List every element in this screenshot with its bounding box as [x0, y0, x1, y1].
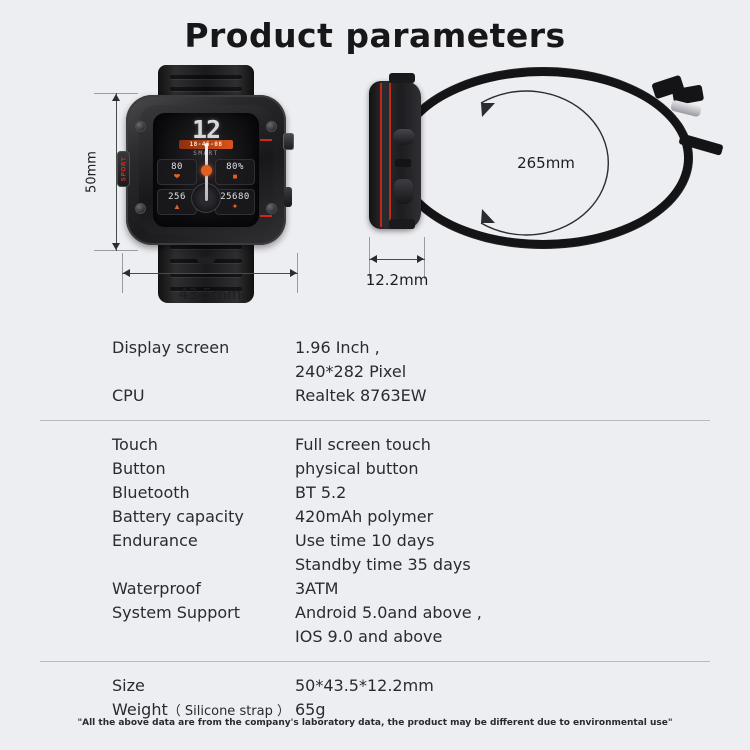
dimension-width-label: 43.5mm [122, 285, 298, 303]
dimension-circumference-label: 265mm [451, 154, 641, 172]
spec-row: CPU Realtek 8763EW [0, 384, 750, 408]
spec-value: Full screen touch [295, 433, 750, 457]
spec-label: Button [0, 457, 295, 481]
spec-value: 3ATM [295, 577, 750, 601]
watch-hand-center [201, 165, 212, 176]
spec-value: physical button [295, 457, 750, 481]
section-divider [40, 661, 710, 662]
spec-row: Battery capacity 420mAh polymer [0, 505, 750, 529]
bezel-screw-icon [266, 203, 277, 214]
spec-row: Display screen 1.96 Inch , 240*282 Pixel [0, 336, 750, 384]
specifications-table: Display screen 1.96 Inch , 240*282 Pixel… [0, 330, 750, 730]
heart-icon: ❤ [157, 172, 197, 182]
watch-buckle [651, 73, 709, 113]
watch-crown [283, 133, 294, 150]
spec-row: System Support Android 5.0and above , IO… [0, 601, 750, 649]
spec-label: Endurance [0, 529, 295, 553]
spec-label: Battery capacity [0, 505, 295, 529]
dimension-circumference: 265mm [451, 77, 641, 249]
spec-label: System Support [0, 601, 295, 625]
spec-value: BT 5.2 [295, 481, 750, 505]
spec-value: Realtek 8763EW [295, 384, 750, 408]
spec-label: Touch [0, 433, 295, 457]
watch-lug-top [389, 73, 415, 83]
page-title: Product parameters [0, 0, 750, 55]
product-image-area: SPORT 12 18-45-08 SMART 80 ❤ 80% ■ 256 [0, 63, 750, 318]
footnote-disclaimer: "All the above data are from the company… [0, 718, 750, 728]
battery-icon: ■ [215, 172, 255, 182]
bezel-screw-icon [135, 203, 146, 214]
watch-case: SPORT 12 18-45-08 SMART 80 ❤ 80% ■ 256 [126, 95, 286, 245]
spec-label: Waterproof [0, 577, 295, 601]
widget-value: 25680 [215, 189, 255, 202]
spec-label: Size [0, 674, 295, 698]
watch-lug-bottom [389, 219, 415, 229]
arrow-left-icon [370, 255, 377, 263]
watch-widget-battery: 80% ■ [215, 159, 255, 185]
spec-label-main: Weight [112, 700, 168, 719]
spec-row: Endurance Use time 10 days Standby time … [0, 529, 750, 577]
spec-row: Button physical button [0, 457, 750, 481]
spec-group: Touch Full screen touch Button physical … [0, 427, 750, 655]
watch-screen: 12 18-45-08 SMART 80 ❤ 80% ■ 256 ▲ 25680 [153, 113, 259, 227]
smartwatch-front-view: SPORT 12 18-45-08 SMART 80 ❤ 80% ■ 256 [70, 63, 320, 313]
widget-value: 80 [157, 159, 197, 172]
watch-side-button [394, 179, 413, 204]
red-accent-stripe [389, 83, 391, 227]
flame-icon: ▲ [157, 202, 197, 212]
spec-value: Use time 10 days Standby time 35 days [295, 529, 750, 577]
spec-row: Size 50*43.5*12.2mm [0, 674, 750, 698]
spec-row: Waterproof 3ATM [0, 577, 750, 601]
spec-value: 420mAh polymer [295, 505, 750, 529]
spec-value: 50*43.5*12.2mm [295, 674, 750, 698]
arrow-left-icon [123, 269, 130, 277]
red-accent-mark [260, 139, 272, 141]
watch-side-button [284, 187, 292, 207]
watch-sensor-port [395, 159, 411, 167]
arrow-right-icon [290, 269, 297, 277]
steps-icon: ✦ [215, 202, 255, 212]
dimension-height: 50mm [88, 93, 128, 251]
watch-case-profile [369, 81, 421, 229]
bezel-screw-icon [266, 121, 277, 132]
spec-label-sub: （ Silicone strap ） [168, 704, 290, 719]
watch-widget-steps: 25680 ✦ [215, 189, 255, 215]
spec-value: Android 5.0and above , IOS 9.0 and above [295, 601, 750, 649]
spec-row: Touch Full screen touch [0, 433, 750, 457]
arrow-down-icon [112, 243, 120, 250]
arrow-up-icon [112, 94, 120, 101]
dimension-thickness-label: 12.2mm [355, 271, 439, 289]
dimension-height-label: 50mm [84, 151, 99, 193]
section-divider [40, 420, 710, 421]
spec-label: CPU [0, 384, 295, 408]
watch-crown [393, 129, 415, 145]
red-accent-mark [260, 215, 272, 217]
watch-widget-heartrate: 80 ❤ [157, 159, 197, 185]
arrow-right-icon [417, 255, 424, 263]
spec-label: Bluetooth [0, 481, 295, 505]
spec-value: 1.96 Inch , 240*282 Pixel [295, 336, 750, 384]
smartwatch-side-view: 265mm 12.2mm [355, 63, 715, 313]
widget-value: 80% [215, 159, 255, 172]
spec-row: Bluetooth BT 5.2 [0, 481, 750, 505]
bezel-screw-icon [135, 121, 146, 132]
red-accent-stripe [380, 83, 382, 227]
spec-group: Display screen 1.96 Inch , 240*282 Pixel… [0, 330, 750, 414]
spec-label: Display screen [0, 336, 295, 360]
